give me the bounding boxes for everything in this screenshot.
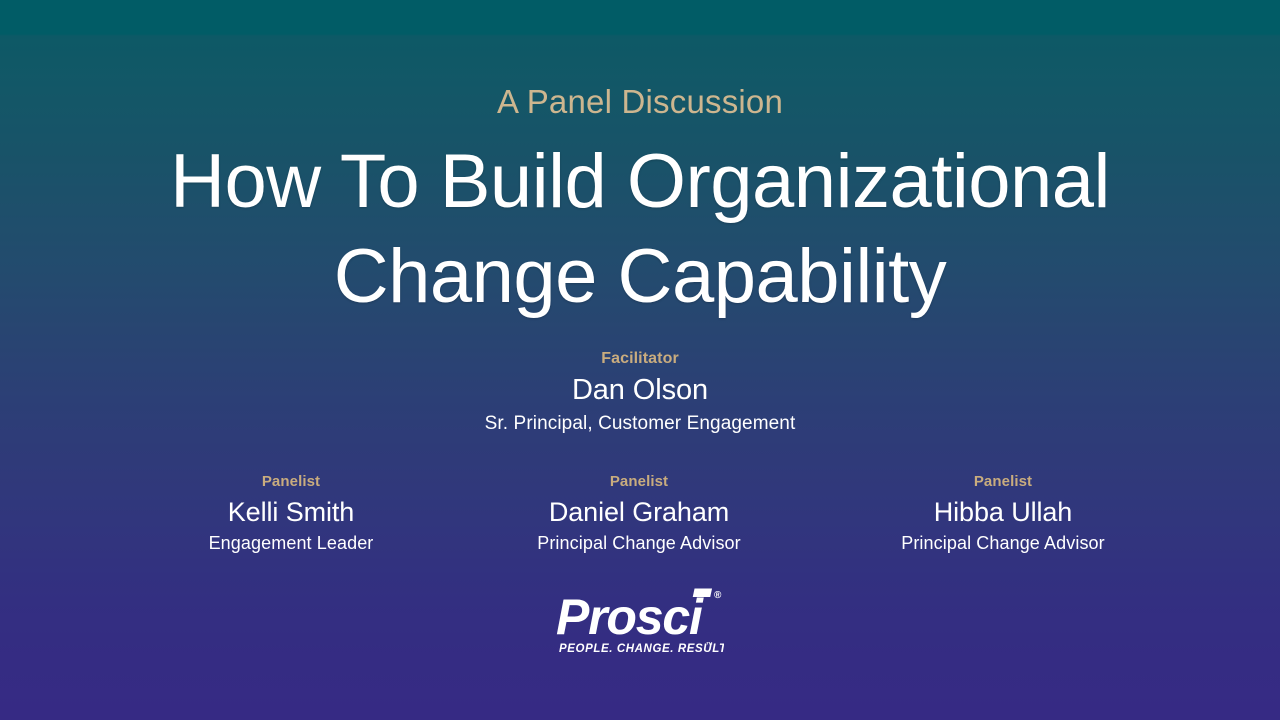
panelist-card-1: Panelist Kelli Smith Engagement Leader <box>141 472 441 556</box>
panelist-name: Kelli Smith <box>141 494 441 530</box>
logo-tagline: PEOPLE. CHANGE. RESULTS. <box>559 643 724 655</box>
panelist-role-label: Panelist <box>489 472 789 492</box>
facilitator-role-label: Facilitator <box>0 348 1280 369</box>
presentation-slide: A Panel Discussion How To Build Organiza… <box>0 0 1280 720</box>
panelist-name: Hibba Ullah <box>853 494 1153 530</box>
panelist-row: Panelist Kelli Smith Engagement Leader P… <box>0 472 1280 556</box>
prosci-logo: Prosci ® PEOPLE. CHANGE. RESULTS. ™ <box>556 584 724 656</box>
facilitator-job-title: Sr. Principal, Customer Engagement <box>0 411 1280 437</box>
panelist-job-title: Principal Change Advisor <box>853 531 1153 556</box>
panelist-role-label: Panelist <box>853 472 1153 492</box>
panelist-name: Daniel Graham <box>489 494 789 530</box>
panelist-job-title: Principal Change Advisor <box>489 531 789 556</box>
title-line-1: How To Build Organizational <box>0 134 1280 229</box>
panelist-job-title: Engagement Leader <box>141 531 441 556</box>
facilitator-name: Dan Olson <box>0 371 1280 410</box>
facilitator-block: Facilitator Dan Olson Sr. Principal, Cus… <box>0 348 1280 437</box>
panelist-role-label: Panelist <box>141 472 441 492</box>
logo-trademark-icon: ™ <box>706 642 713 649</box>
title-line-2: Change Capability <box>0 229 1280 324</box>
slide-kicker: A Panel Discussion <box>0 80 1280 124</box>
logo-registered-icon: ® <box>714 590 722 601</box>
panelist-card-3: Panelist Hibba Ullah Principal Change Ad… <box>853 472 1153 556</box>
slide-title: How To Build Organizational Change Capab… <box>0 134 1280 324</box>
logo-wordmark: Prosci <box>556 589 704 645</box>
panelist-card-2: Panelist Daniel Graham Principal Change … <box>489 472 789 556</box>
